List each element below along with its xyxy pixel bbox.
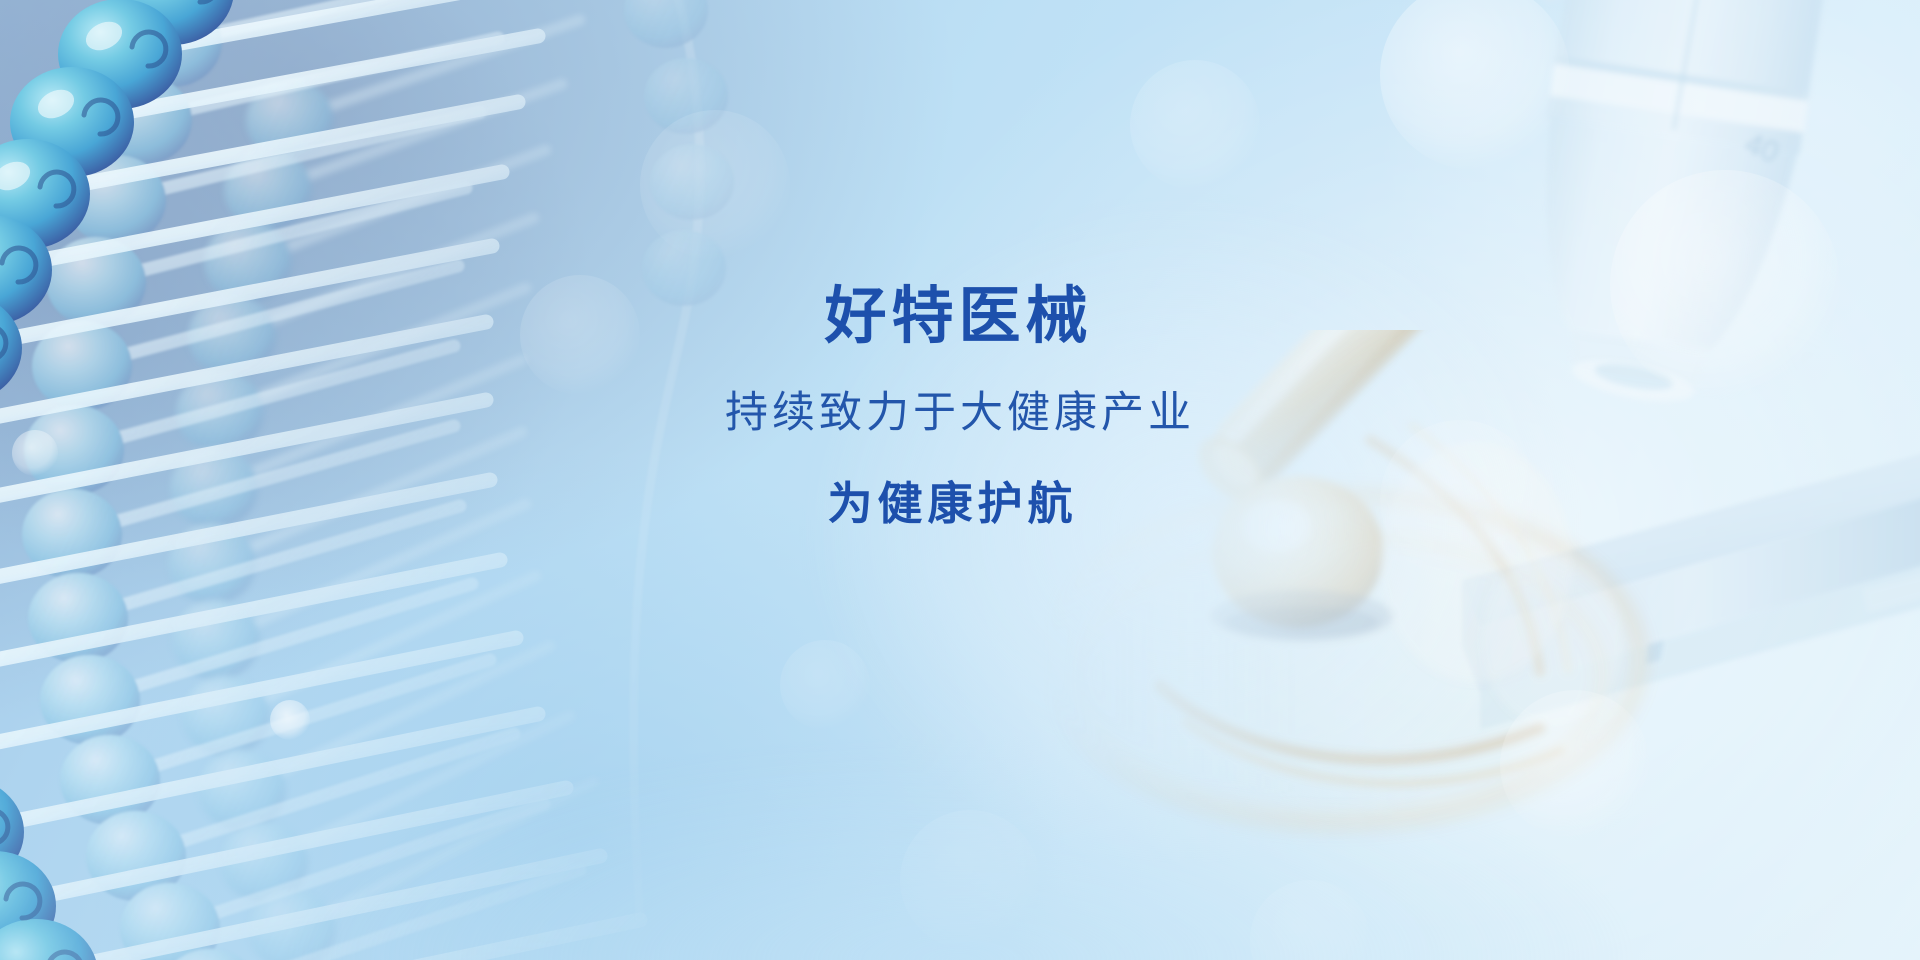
bokeh-circle	[1250, 880, 1370, 960]
bokeh-circle	[780, 640, 870, 730]
banner-text-block: 好特医械 持续致力于大健康产业 为健康护航	[0, 286, 1920, 526]
microscope-stage-graphic	[1330, 430, 1920, 850]
bokeh-circle	[1130, 60, 1260, 190]
bokeh-circle	[1500, 690, 1650, 840]
brand-subtitle: 持续致力于大健康产业	[721, 392, 1195, 435]
bokeh-circle	[900, 810, 1040, 950]
microscope-objective-graphic: 40	[1340, 0, 1920, 520]
brand-slogan: 为健康护航	[822, 481, 1077, 526]
bokeh-circle	[1380, 420, 1540, 580]
bokeh-circle	[1380, 0, 1570, 170]
brand-title: 好特医械	[819, 286, 1092, 348]
bokeh-circle	[12, 430, 58, 476]
bokeh-circle	[270, 700, 310, 740]
bokeh-circle	[1610, 170, 1840, 400]
bokeh-circle	[640, 110, 790, 260]
dna-helix-graphic	[0, 0, 940, 960]
haze-overlay	[0, 0, 1920, 960]
petri-dish-graphic	[1040, 330, 1660, 870]
objective-magnification-label: 40	[1740, 127, 1783, 170]
hero-banner: 40	[0, 0, 1920, 960]
bokeh-circle	[520, 275, 640, 395]
